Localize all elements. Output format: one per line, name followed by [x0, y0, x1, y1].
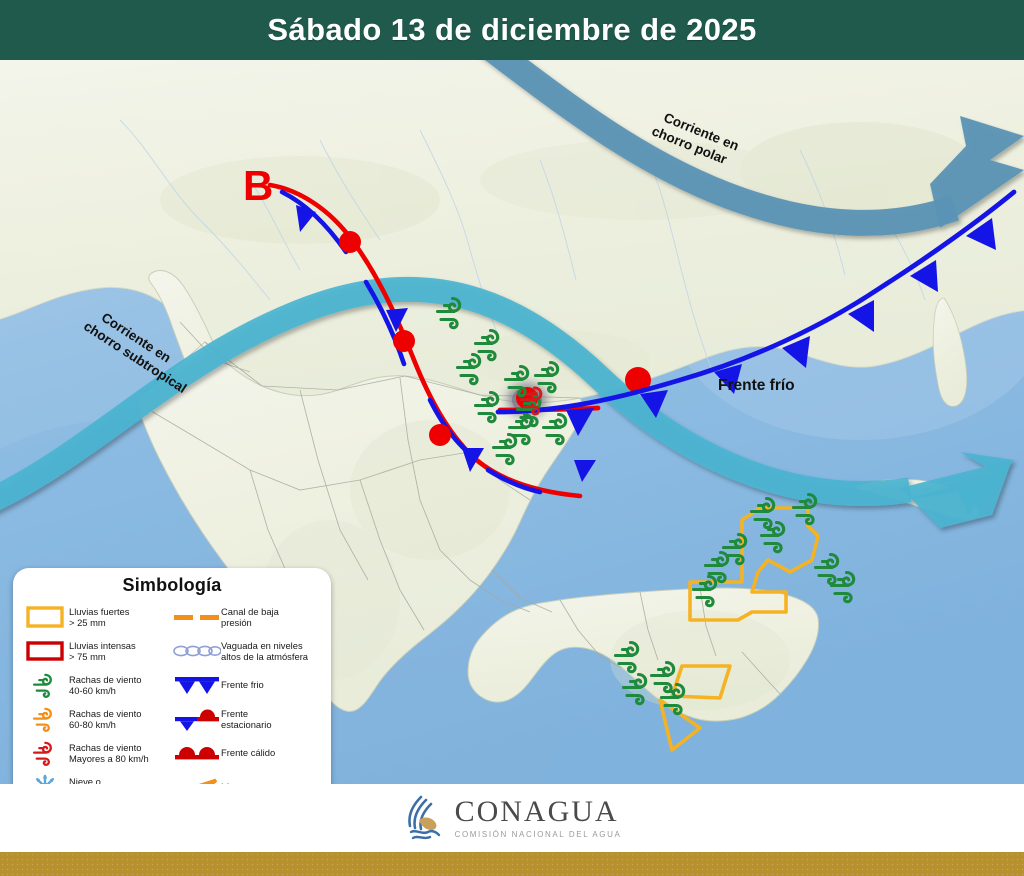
low-pressure-channel-icon	[173, 602, 221, 632]
legend-label-line2: Mayores a 80 km/h	[69, 753, 149, 765]
legend-item-lluvias-fuertes: Lluvias fuertes > 25 mm	[21, 600, 173, 634]
logo-name: CONAGUA	[455, 797, 622, 827]
legend-label-line2: presión	[221, 617, 279, 629]
legend-label-line1: Frente frio	[221, 679, 264, 691]
conagua-emblem-icon	[403, 794, 445, 842]
legend-label-line1: Vaguada en niveles	[221, 640, 308, 652]
legend-panel: Simbología Lluvias fuertes > 25 mm	[13, 568, 331, 784]
logo-subtitle: COMISIÓN NACIONAL DEL AGUA	[455, 830, 622, 839]
upper-level-trough-icon	[173, 636, 221, 666]
legend-label-line2: 60-80 km/h	[69, 719, 141, 731]
legend-item-vaguada: Vaguada en niveles altos de la atmósfera	[173, 634, 325, 668]
legend-label-line1: Rachas de viento	[69, 742, 149, 754]
rain-heavy-box-icon	[21, 602, 69, 632]
legend-item-viento-40-60: Rachas de viento 40-60 km/h	[21, 668, 173, 702]
legend-label-line2: altos de la atmósfera	[221, 651, 308, 663]
legend-label-line1: Canal de baja	[221, 606, 279, 618]
legend-item-canal-baja-presion: Canal de baja presión	[173, 600, 325, 634]
legend-item-frente-estacionario: Frente estacionario	[173, 702, 325, 736]
legend-label-line1: Frente	[221, 708, 272, 720]
legend-label-line2: > 25 mm	[69, 617, 129, 629]
legend-label-line1: Frente cálido	[221, 747, 275, 759]
legend-item-lluvias-intensas: Lluvias intensas > 75 mm	[21, 634, 173, 668]
legend-label-line2: 40-60 km/h	[69, 685, 141, 697]
dry-line-icon	[173, 772, 221, 784]
legend-label-line2: estacionario	[221, 719, 272, 731]
legend-item-frente-calido: Frente cálido	[173, 736, 325, 770]
conagua-logo: CONAGUA COMISIÓN NACIONAL DEL AGUA	[403, 794, 622, 842]
page-title: Sábado 13 de diciembre de 2025	[267, 12, 756, 48]
legend-label-line1: Lluvias fuertes	[69, 606, 129, 618]
rain-intense-box-icon	[21, 636, 69, 666]
low-pressure-marker: B	[243, 162, 273, 209]
stationary-front-icon	[173, 704, 221, 734]
cold-front-icon	[173, 670, 221, 700]
legend-item-frente-frio: Frente frio	[173, 668, 325, 702]
legend-title: Simbología	[13, 568, 331, 596]
legend-item-nieve: Nieve o aguanieve	[21, 770, 173, 784]
legend-item-viento-mayor-80: Rachas de viento Mayores a 80 km/h	[21, 736, 173, 770]
wind-gust-orange-icon	[21, 704, 69, 734]
footer-bar: CONAGUA COMISIÓN NACIONAL DEL AGUA	[0, 784, 1024, 852]
legend-label-line1: Nieve o	[69, 776, 112, 785]
legend-label-line1: Lluvias intensas	[69, 640, 136, 652]
warm-front-icon	[173, 738, 221, 768]
header-bar: Sábado 13 de diciembre de 2025	[0, 0, 1024, 60]
legend-label-line1: Rachas de viento	[69, 674, 141, 686]
legend-item-viento-60-80: Rachas de viento 60-80 km/h	[21, 702, 173, 736]
wind-gust-green-icon	[21, 670, 69, 700]
legend-label-line2: > 75 mm	[69, 651, 136, 663]
legend-label-line1: Rachas de viento	[69, 708, 141, 720]
legend-left-column: Lluvias fuertes > 25 mm Lluvias intensas…	[21, 600, 173, 784]
weather-map-page: Sábado 13 de diciembre de 2025	[0, 0, 1024, 876]
legend-item-linea-seca: Línea seca	[173, 770, 325, 784]
wind-gust-red-icon	[21, 738, 69, 768]
weather-map[interactable]: Corriente en chorro subtropical Corrient…	[0, 60, 1024, 784]
bottom-accent-bar	[0, 852, 1024, 876]
snow-icon	[21, 772, 69, 784]
cold-front-label: Frente frío	[718, 377, 795, 394]
legend-right-column: Canal de baja presión	[173, 600, 325, 784]
